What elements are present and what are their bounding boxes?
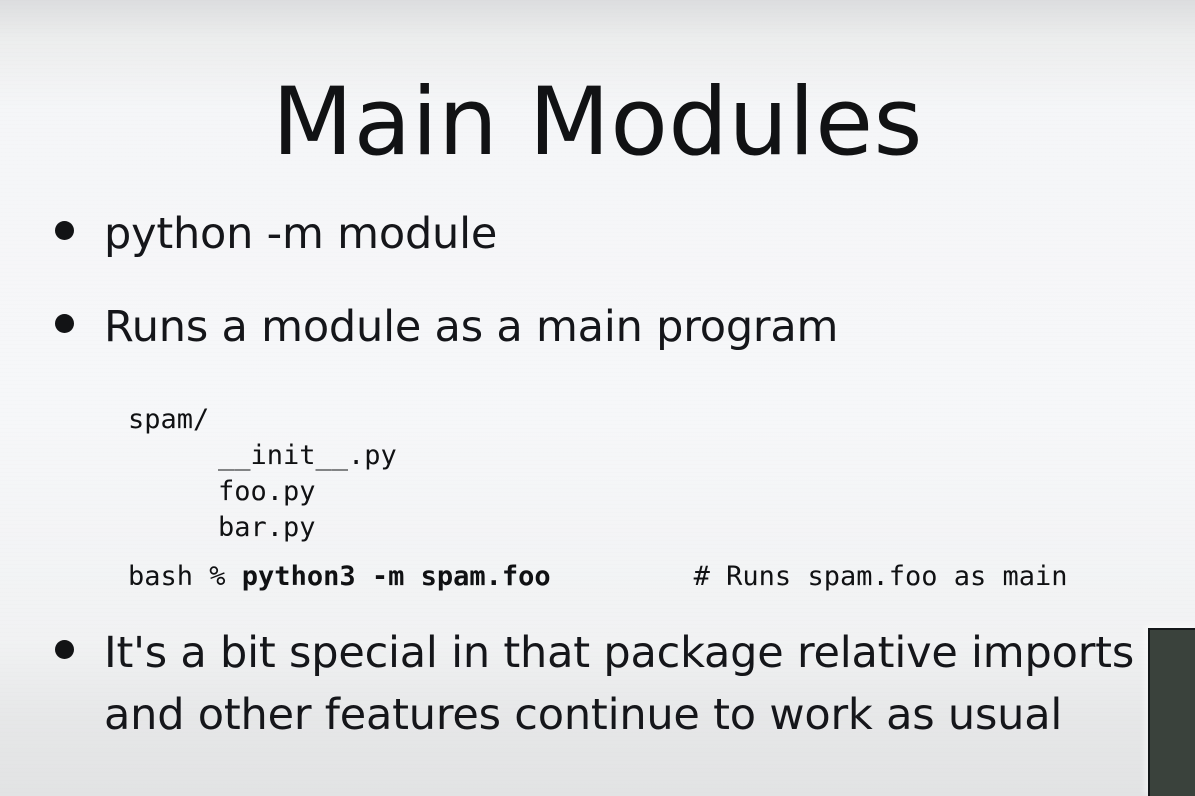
bullet-item-2-label: Runs a module as a main program xyxy=(104,296,838,358)
video-overlay-panel xyxy=(1148,628,1195,796)
code-line-init-py: __init__.py xyxy=(218,440,397,471)
presentation-slide: Main Modules python -m module Runs a mod… xyxy=(0,0,1195,796)
code-line-package-dir: spam/ xyxy=(128,404,209,435)
bullet-item-3-label: It's a bit special in that package relat… xyxy=(104,622,1149,746)
code-line-foo-py: foo.py xyxy=(218,476,316,507)
bullet-dot-icon xyxy=(55,640,74,659)
shell-prompt: bash % xyxy=(128,561,242,592)
bullet-item-2: Runs a module as a main program xyxy=(55,296,838,358)
code-block-shell-command: bash % python3 -m spam.foo# Runs spam.fo… xyxy=(128,559,1188,595)
bullet-dot-icon xyxy=(55,221,74,240)
code-line-bar-py: bar.py xyxy=(218,512,316,543)
shell-comment: # Runs spam.foo as main xyxy=(694,561,1068,592)
shell-command: python3 -m spam.foo xyxy=(242,561,551,592)
code-block-directory-tree: spam/ __init__.py foo.py bar.py xyxy=(128,402,397,546)
bullet-item-1-label: python -m module xyxy=(104,203,497,265)
slide-title: Main Modules xyxy=(0,71,1195,175)
bullet-dot-icon xyxy=(55,314,74,333)
bullet-item-1: python -m module xyxy=(55,203,497,265)
bullet-item-3: It's a bit special in that package relat… xyxy=(55,622,1150,746)
